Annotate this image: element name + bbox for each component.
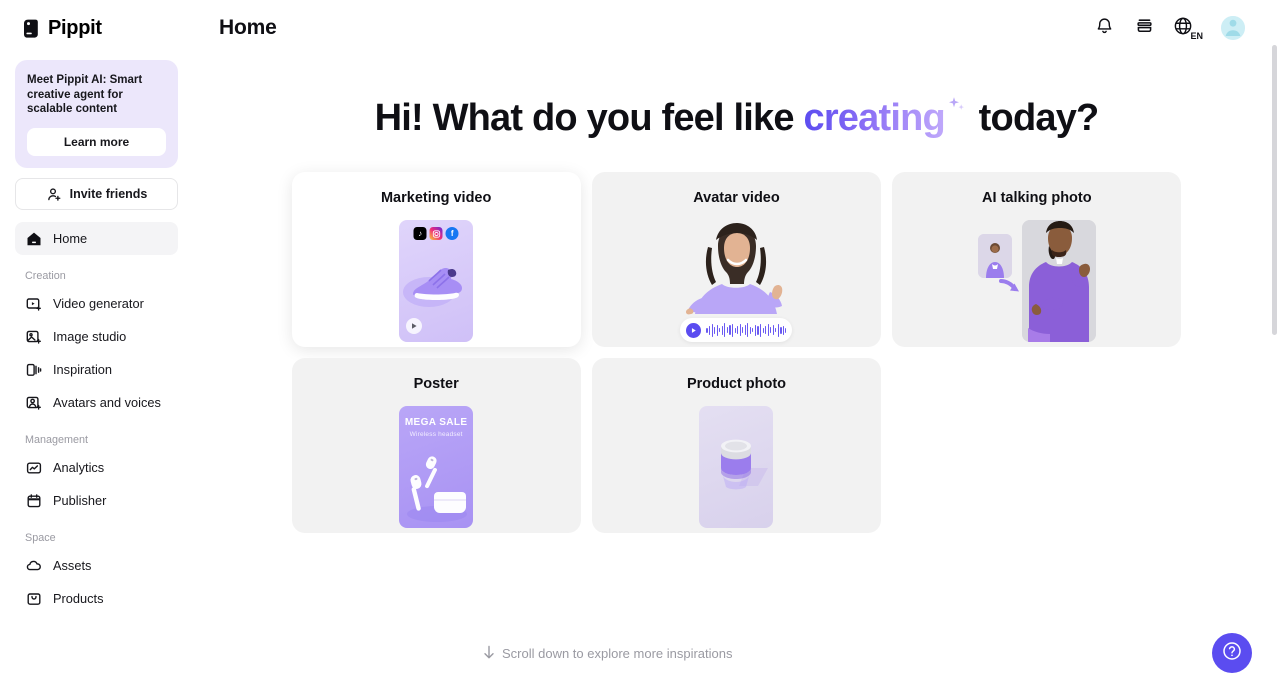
generated-photo: [1022, 220, 1096, 342]
grid-spacer: [892, 358, 1181, 533]
sidebar-item-label: Inspiration: [53, 362, 112, 377]
sidebar-item-label: Publisher: [53, 493, 106, 508]
sidebar-nav: Home Creation Video generator: [15, 222, 178, 615]
talking-photo-thumb: [978, 220, 1096, 342]
poster-thumb: MEGA SALE Wireless headset: [399, 406, 473, 528]
sidebar-item-inspiration[interactable]: Inspiration: [15, 353, 178, 386]
sparkle-icon: [945, 84, 967, 127]
credits-card-icon: [1135, 16, 1154, 40]
instagram-icon: [430, 227, 443, 240]
learn-more-button[interactable]: Learn more: [27, 128, 166, 156]
arrow-down-icon: [483, 645, 495, 662]
sidebar-item-products[interactable]: Products: [15, 582, 178, 615]
main-content: Home: [193, 0, 1280, 690]
audio-player-bar[interactable]: [680, 318, 792, 342]
avatar-presenter-thumb: [682, 220, 790, 342]
sidebar-item-label: Avatars and voices: [53, 395, 161, 410]
user-avatar-icon: [1221, 16, 1245, 40]
sidebar: Pippit Meet Pippit AI: Smart creative ag…: [0, 0, 193, 690]
inspiration-cards-icon: [25, 361, 42, 378]
sidebar-item-video-generator[interactable]: Video generator: [15, 287, 178, 320]
sidebar-section-creation: Creation: [15, 268, 178, 284]
card-title: Avatar video: [592, 172, 881, 206]
analytics-chart-icon: [25, 459, 42, 476]
invite-person-icon: [46, 186, 63, 203]
page-headline: Hi! What do you feel like creating today…: [193, 84, 1280, 140]
question-circle-icon: [1221, 640, 1243, 667]
sidebar-section-management: Management: [15, 432, 178, 448]
sidebar-item-label: Products: [53, 591, 104, 606]
poster-title: MEGA SALE: [399, 417, 473, 428]
sidebar-item-label: Analytics: [53, 460, 104, 475]
page-title: Home: [219, 16, 277, 40]
video-plus-icon: [25, 295, 42, 312]
top-actions: EN: [1093, 16, 1245, 40]
notifications-button[interactable]: [1093, 17, 1115, 39]
pippit-logo-icon: [22, 18, 41, 39]
headline-accent: creating: [803, 97, 944, 139]
tiktok-icon: ♪: [414, 227, 427, 240]
promo-card: Meet Pippit AI: Smart creative agent for…: [15, 60, 178, 168]
avatar[interactable]: [1221, 16, 1245, 40]
sidebar-item-assets[interactable]: Assets: [15, 549, 178, 582]
bell-icon: [1095, 16, 1114, 40]
cards-row-2: Poster MEGA SALE Wireless headset: [292, 358, 1182, 533]
card-poster[interactable]: Poster MEGA SALE Wireless headset: [292, 358, 581, 533]
sidebar-item-label: Video generator: [53, 296, 144, 311]
play-icon[interactable]: [686, 323, 701, 338]
sidebar-item-analytics[interactable]: Analytics: [15, 451, 178, 484]
app-root: Pippit Meet Pippit AI: Smart creative ag…: [0, 0, 1280, 690]
card-thumbnail: [592, 402, 881, 533]
invite-friends-button[interactable]: Invite friends: [15, 178, 178, 210]
brand-name: Pippit: [48, 17, 102, 40]
scroll-hint[interactable]: Scroll down to explore more inspirations: [483, 645, 733, 662]
card-thumbnail: [592, 216, 881, 347]
card-title: AI talking photo: [892, 172, 1181, 206]
sidebar-item-publisher[interactable]: Publisher: [15, 484, 178, 517]
card-thumbnail: MEGA SALE Wireless headset: [292, 402, 581, 533]
sidebar-item-home[interactable]: Home: [15, 222, 178, 255]
box-icon: [25, 590, 42, 607]
poster-subtitle: Wireless headset: [399, 431, 473, 438]
invite-friends-label: Invite friends: [70, 187, 148, 201]
card-title: Marketing video: [292, 172, 581, 206]
card-avatar-video[interactable]: Avatar video: [592, 172, 881, 347]
social-icons: ♪ f: [414, 227, 459, 240]
headline-part-2: today?: [969, 97, 1099, 139]
cards-grid: Marketing video: [292, 172, 1182, 533]
headline-part-1: Hi! What do you feel like: [375, 97, 804, 139]
sidebar-item-label: Assets: [53, 558, 91, 573]
waveform-icon: [706, 323, 786, 337]
card-title: Product photo: [592, 358, 881, 392]
credits-button[interactable]: [1133, 17, 1155, 39]
sidebar-item-label: Image studio: [53, 329, 126, 344]
curved-arrow-icon: [999, 278, 1025, 300]
sidebar-item-avatars-and-voices[interactable]: Avatars and voices: [15, 386, 178, 419]
card-thumbnail: [892, 216, 1181, 347]
card-title: Poster: [292, 358, 581, 392]
card-product-photo[interactable]: Product photo: [592, 358, 881, 533]
calendar-icon: [25, 492, 42, 509]
facebook-icon: f: [446, 227, 459, 240]
avatar-plus-icon: [25, 394, 42, 411]
cards-row-1: Marketing video: [292, 172, 1182, 347]
cloud-icon: [25, 557, 42, 574]
sidebar-section-space: Space: [15, 530, 178, 546]
vertical-scrollbar[interactable]: [1272, 45, 1277, 335]
language-button[interactable]: EN: [1173, 16, 1203, 40]
sidebar-item-label: Home: [53, 231, 87, 246]
image-plus-icon: [25, 328, 42, 345]
source-photo: [978, 234, 1012, 278]
sidebar-item-image-studio[interactable]: Image studio: [15, 320, 178, 353]
card-ai-talking-photo[interactable]: AI talking photo: [892, 172, 1181, 347]
top-bar: Home: [193, 0, 1280, 56]
card-thumbnail: ♪ f: [292, 216, 581, 347]
promo-text: Meet Pippit AI: Smart creative agent for…: [27, 73, 166, 117]
scroll-hint-label: Scroll down to explore more inspirations: [502, 646, 733, 661]
language-code: EN: [1189, 32, 1204, 41]
brand-logo[interactable]: Pippit: [15, 0, 178, 56]
help-button[interactable]: [1212, 633, 1252, 673]
home-icon: [25, 230, 42, 247]
product-jar-thumb: [699, 406, 773, 528]
sneaker-social-thumb: ♪ f: [399, 220, 473, 342]
card-marketing-video[interactable]: Marketing video: [292, 172, 581, 347]
